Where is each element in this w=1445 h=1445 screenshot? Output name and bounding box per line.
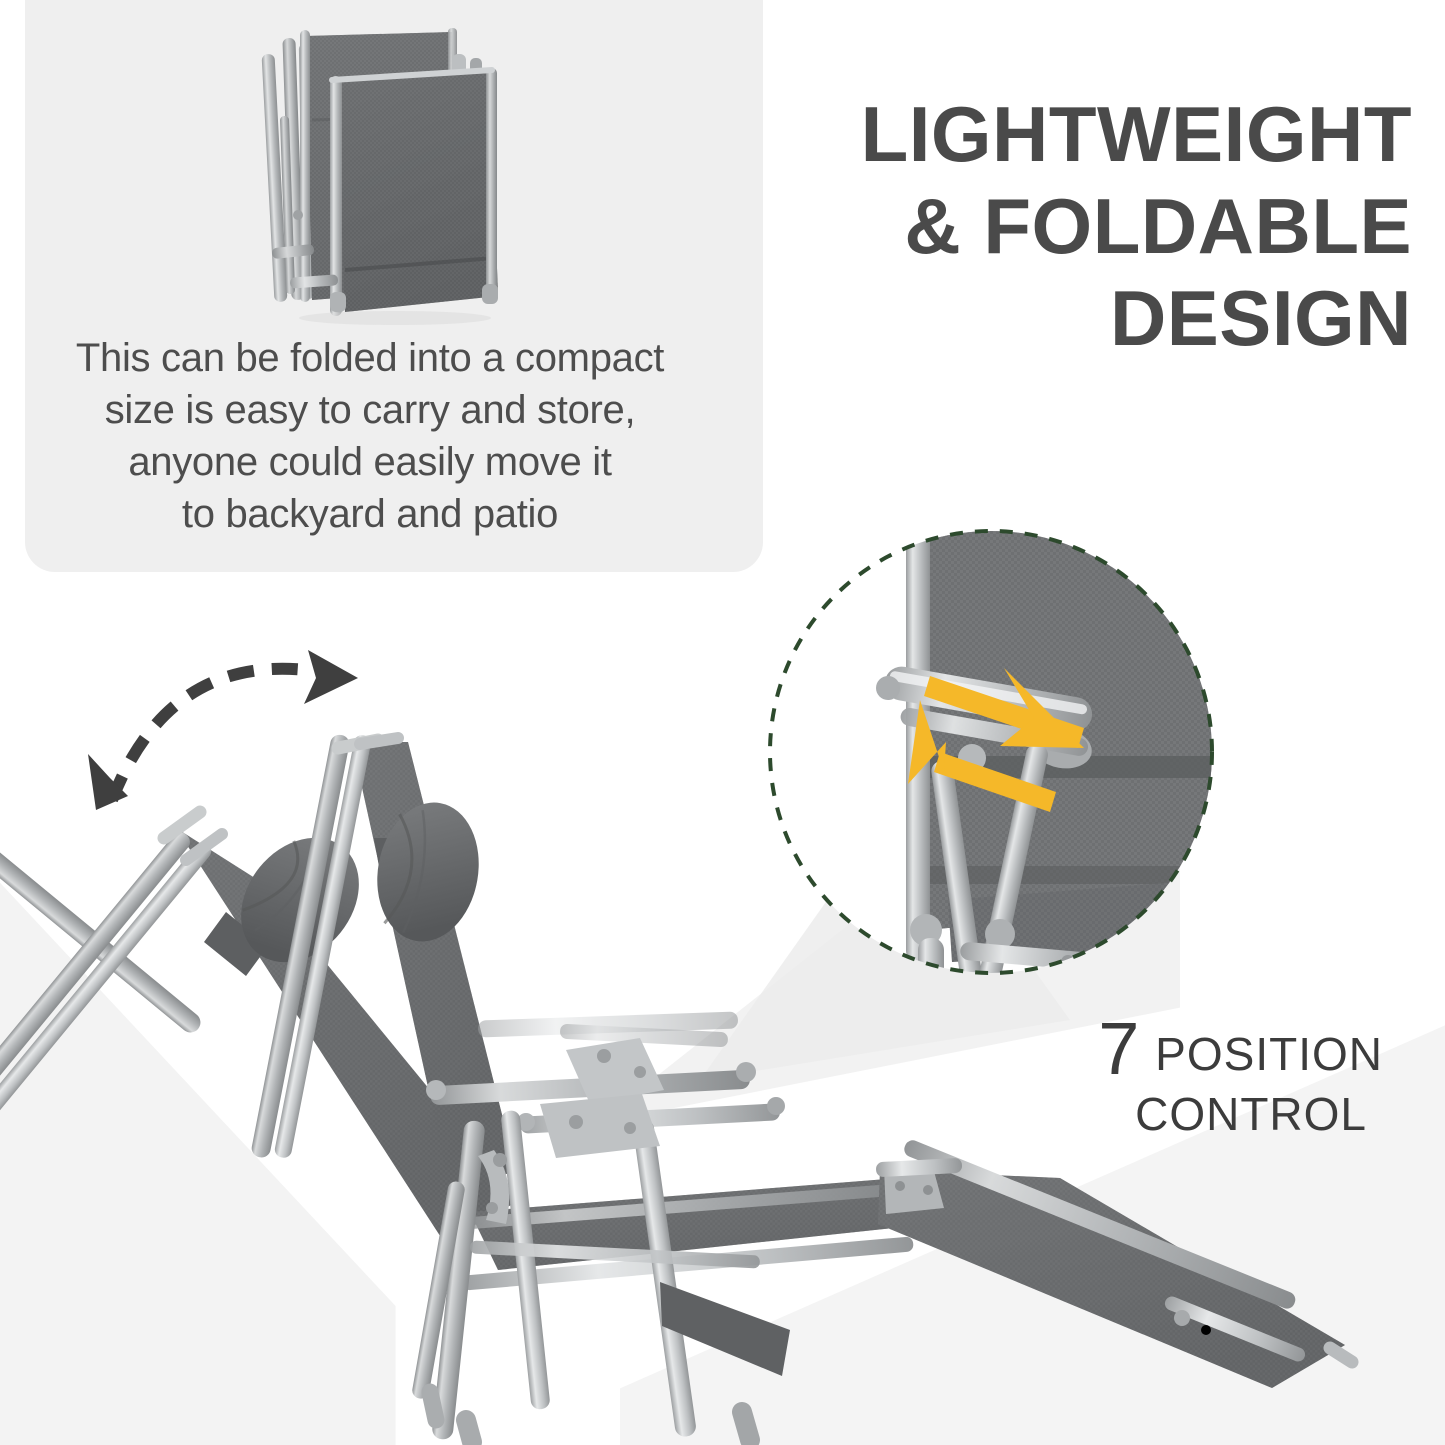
page-title: LIGHTWEIGHT & FOLDABLE DESIGN [712,88,1412,364]
position-control-row-1: 7 POSITION [963,1018,1383,1085]
control-word: CONTROL [963,1085,1383,1143]
position-control-label: 7 POSITION CONTROL [963,1018,1383,1143]
position-word: POSITION [1141,1028,1383,1080]
headline-line-1: LIGHTWEIGHT [712,88,1412,180]
headline-line-2: & FOLDABLE [712,180,1412,272]
headline-line-3: DESIGN [712,272,1412,364]
info-panel-body-text: This can be folded into a compact size i… [40,332,700,540]
detail-callout-content [770,462,1232,994]
position-count: 7 [1098,1007,1141,1090]
product-feature-graphic: This can be folded into a compact size i… [0,0,1445,1445]
